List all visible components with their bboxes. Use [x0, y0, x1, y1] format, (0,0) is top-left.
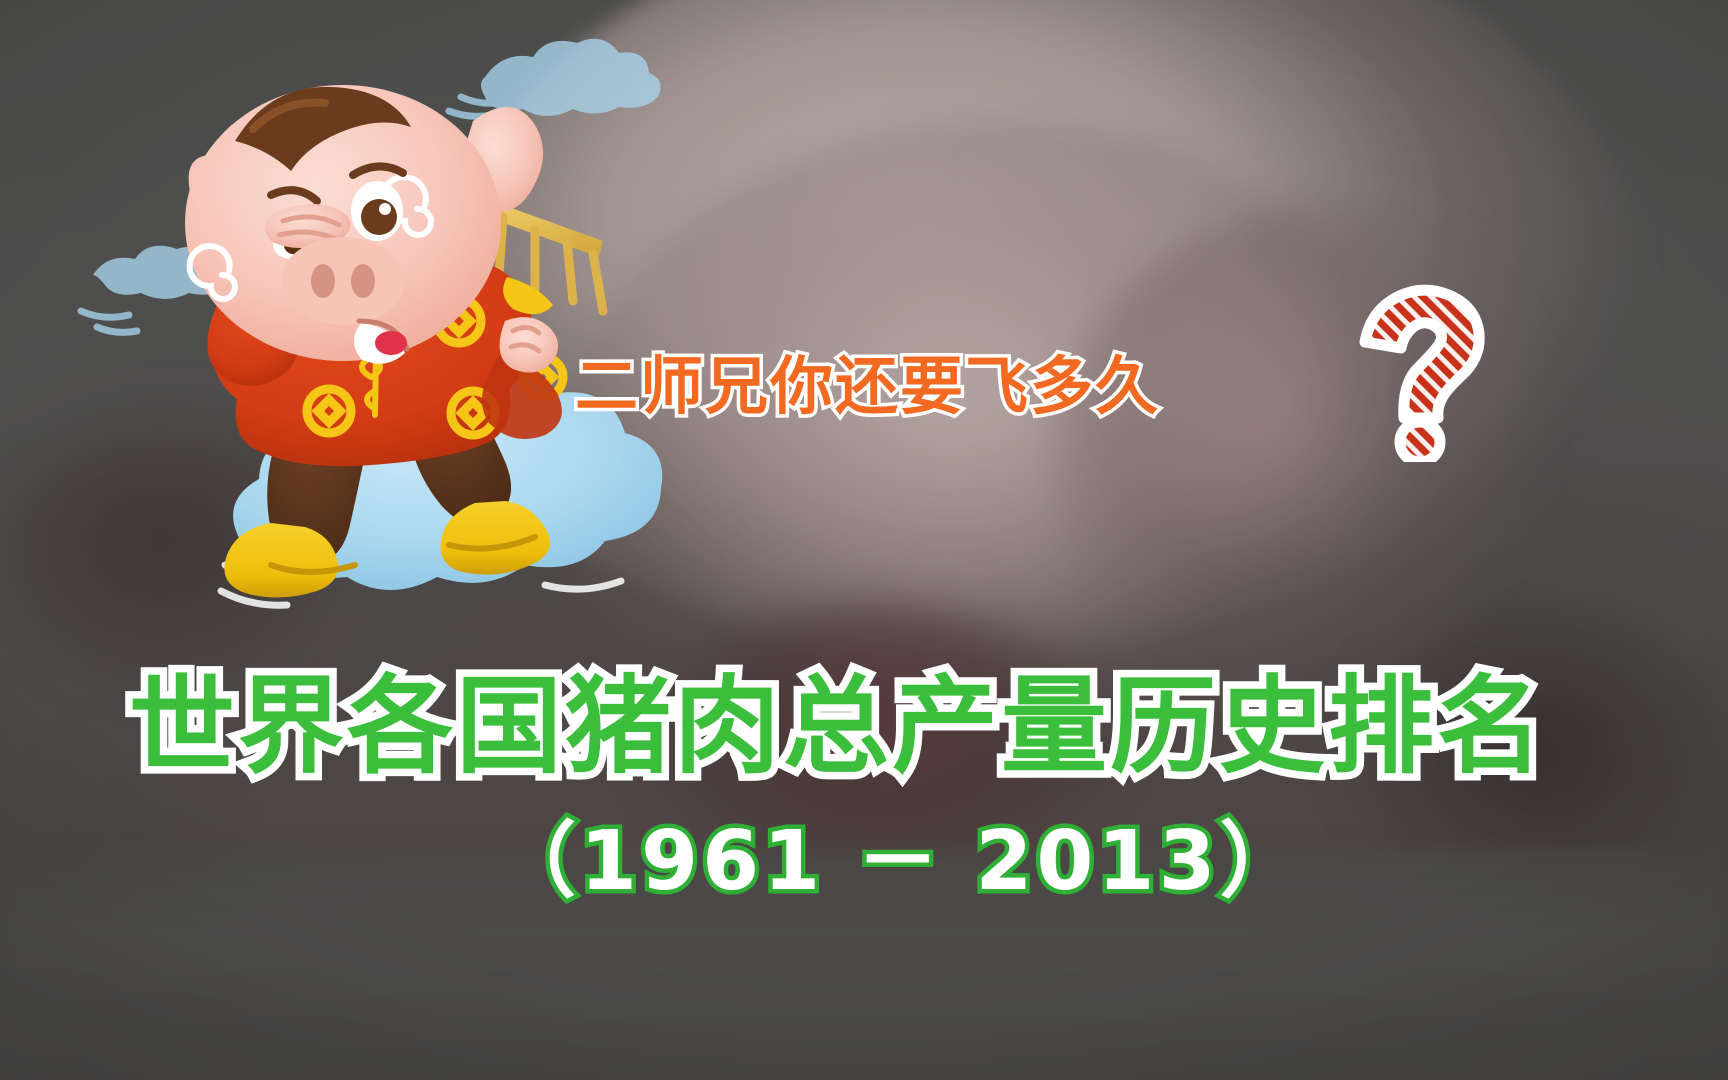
video-thumbnail: 二师兄你还要飞多久 世界各国猪肉总产量历史排名 （1961 － 2013） — [0, 0, 1728, 1080]
page-title: 世界各国猪肉总产量历史排名 — [129, 640, 1546, 794]
tagline-text: 二师兄你还要飞多久 — [575, 336, 1160, 427]
mascot-pig-illustration — [75, 25, 725, 645]
mascot-right-hand — [500, 317, 559, 372]
question-mark-icon — [1352, 272, 1502, 462]
wispy-cloud-top-icon — [449, 39, 661, 117]
subtitle-year-range: （1961 － 2013） — [494, 794, 1306, 913]
